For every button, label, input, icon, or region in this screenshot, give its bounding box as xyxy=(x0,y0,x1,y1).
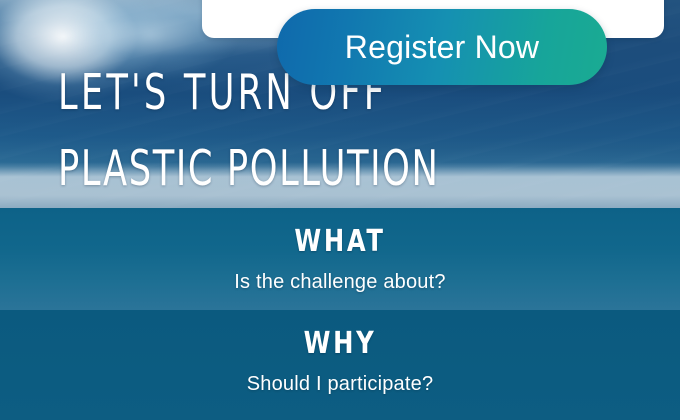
section-why-title: WHY xyxy=(34,310,646,361)
section-what[interactable]: WHAT Is the challenge about? xyxy=(0,208,680,310)
hero-headline-line-2: PLASTIC POLLUTION xyxy=(58,131,538,207)
section-what-subtitle: Is the challenge about? xyxy=(0,259,680,294)
section-what-title: WHAT xyxy=(34,208,646,259)
landing-page: LET'S TURN OFF PLASTIC POLLUTION Registe… xyxy=(0,0,680,420)
register-now-button[interactable]: Register Now xyxy=(277,9,607,85)
section-why-subtitle: Should I participate? xyxy=(0,361,680,396)
section-why[interactable]: WHY Should I participate? xyxy=(0,310,680,420)
